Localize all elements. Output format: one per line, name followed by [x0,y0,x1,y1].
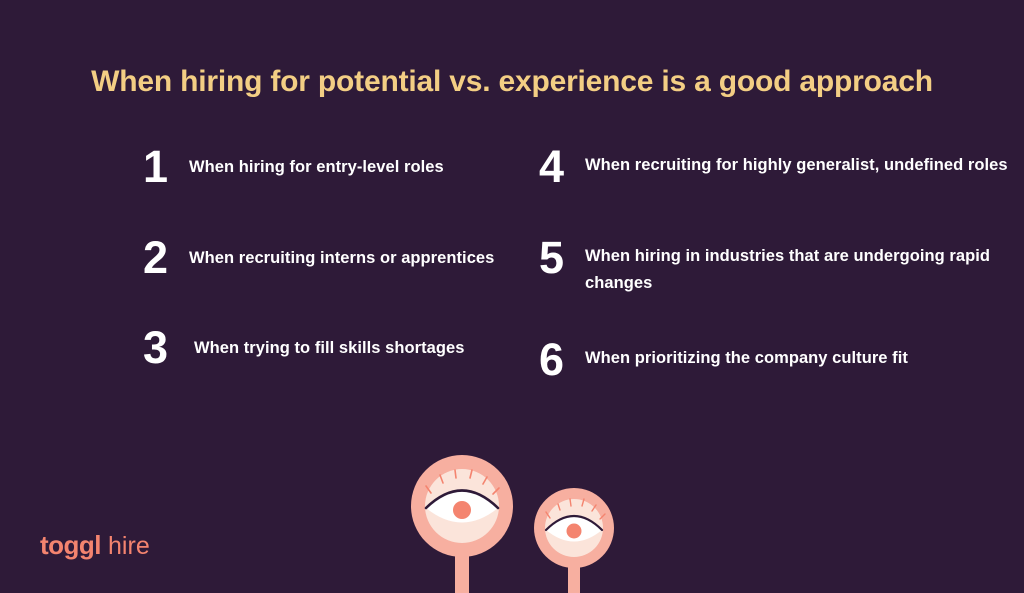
item-text: When hiring in industries that are under… [585,237,1024,296]
eyelashes-large [426,470,499,494]
item-number: 6 [539,339,585,380]
item-number: 4 [539,146,585,187]
list-item: 3 When trying to fill skills shortages [143,327,512,368]
right-column: 4 When recruiting for highly generalist,… [512,146,1024,430]
eye-white-small [546,516,602,542]
item-text: When hiring for entry-level roles [189,146,444,181]
list-item: 4 When recruiting for highly generalist,… [539,146,1024,187]
eye-white-large [426,491,498,523]
list-columns: 1 When hiring for entry-level roles 2 Wh… [0,146,1024,430]
item-number: 2 [143,237,189,278]
list-item: 2 When recruiting interns or apprentices [143,237,512,278]
eye-stem-large [455,533,469,593]
item-text: When prioritizing the company culture fi… [585,339,908,372]
toggl-hire-logo[interactable]: toggl hire [40,530,150,561]
eye-inner-ring-large [425,469,499,543]
eye-pupil-large [453,501,471,519]
eye-outer-ring-large [411,455,513,557]
eye-stem-small [568,558,580,593]
eye-inner-ring-small [545,499,603,557]
item-number: 5 [539,237,585,278]
item-text: When trying to fill skills shortages [189,327,464,362]
item-text: When recruiting for highly generalist, u… [585,146,1008,179]
eye-lid-large [426,491,498,509]
eyelashes-small [546,499,605,519]
page-title: When hiring for potential vs. experience… [0,64,1024,100]
eye-outer-ring-small [534,488,614,568]
logo-product-text: hire [108,532,150,561]
eye-small [534,488,614,568]
list-item: 6 When prioritizing the company culture … [539,339,1024,380]
left-column: 1 When hiring for entry-level roles 2 Wh… [0,146,512,430]
eye-pupil-small [567,524,582,539]
list-item: 5 When hiring in industries that are und… [539,237,1024,296]
item-number: 1 [143,146,189,187]
eye-large [411,455,513,557]
item-text: When recruiting interns or apprentices [189,237,494,272]
slide-canvas: When hiring for potential vs. experience… [0,0,1024,593]
eye-lollipops-illustration [0,433,1024,593]
item-number: 3 [143,327,189,368]
list-item: 1 When hiring for entry-level roles [143,146,512,187]
logo-brand-text: toggl [40,530,101,561]
eye-lid-small [546,516,602,530]
